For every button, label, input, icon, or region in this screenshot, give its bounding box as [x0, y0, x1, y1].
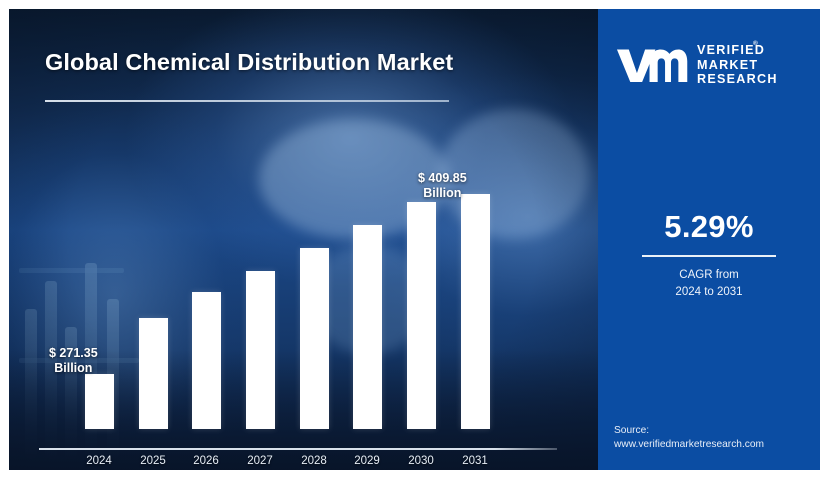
bar-2030[interactable] — [407, 202, 436, 429]
x-tick-2024: 2024 — [72, 455, 126, 467]
source-block: Source: www.verifiedmarketresearch.com — [614, 424, 814, 453]
vmr-monogram-icon — [614, 45, 688, 85]
data-label-2031-value: $ 409.85 — [418, 171, 467, 186]
source-url[interactable]: www.verifiedmarketresearch.com — [614, 438, 814, 452]
bar-2024[interactable] — [85, 374, 114, 429]
registered-trademark-icon: ® — [753, 40, 758, 48]
brand-name-line3: RESEARCH — [697, 72, 778, 87]
bar-chart: 2024 2025 2026 2027 2028 2029 2030 2031 … — [9, 9, 598, 470]
bar-2028[interactable] — [300, 248, 329, 429]
data-label-2031: $ 409.85 Billion — [418, 171, 467, 201]
infographic-frame: Global Chemical Distribution Market 2024… — [0, 0, 829, 479]
cagr-caption-line1: CAGR from — [598, 267, 820, 284]
data-label-2024: $ 271.35 Billion — [49, 346, 98, 376]
brand-wordmark: VERIFIED ® MARKET RESEARCH — [697, 43, 778, 87]
source-label: Source: — [614, 424, 814, 438]
brand-panel: VERIFIED ® MARKET RESEARCH 5.29% CAGR fr… — [598, 9, 820, 470]
infographic-canvas: Global Chemical Distribution Market 2024… — [9, 9, 820, 470]
brand-logo[interactable]: VERIFIED ® MARKET RESEARCH — [614, 39, 810, 91]
x-tick-2026: 2026 — [179, 455, 233, 467]
cagr-value: 5.29% — [598, 209, 820, 245]
bar-2026[interactable] — [192, 292, 221, 429]
brand-name-line1: VERIFIED — [697, 43, 778, 58]
bar-2029[interactable] — [353, 225, 382, 429]
x-axis-line — [39, 448, 557, 450]
x-tick-2029: 2029 — [340, 455, 394, 467]
chart-panel: Global Chemical Distribution Market 2024… — [9, 9, 598, 470]
bar-2027[interactable] — [246, 271, 275, 429]
cagr-caption: CAGR from 2024 to 2031 — [598, 267, 820, 300]
x-tick-2031: 2031 — [448, 455, 502, 467]
bar-2031[interactable] — [461, 194, 490, 429]
brand-name-line2: MARKET — [697, 58, 778, 73]
x-tick-2028: 2028 — [287, 455, 341, 467]
x-tick-2027: 2027 — [233, 455, 287, 467]
x-tick-2025: 2025 — [126, 455, 180, 467]
bar-2025[interactable] — [139, 318, 168, 429]
data-label-2031-unit: Billion — [418, 186, 467, 201]
data-label-2024-value: $ 271.35 — [49, 346, 98, 361]
cagr-caption-line2: 2024 to 2031 — [598, 284, 820, 301]
data-label-2024-unit: Billion — [49, 361, 98, 376]
x-tick-2030: 2030 — [394, 455, 448, 467]
cagr-divider — [642, 255, 776, 257]
